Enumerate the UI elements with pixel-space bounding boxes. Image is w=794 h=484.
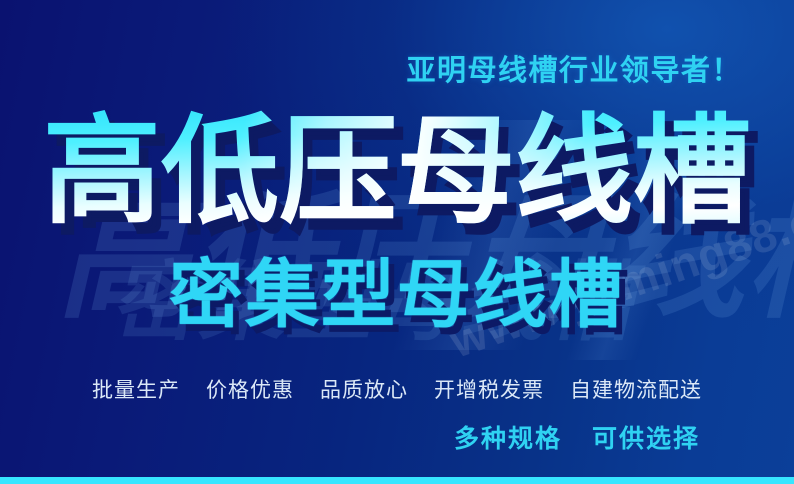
headline-group: 高低压母线槽 高低压母线槽 高低压母线槽 [0,108,794,234]
bottom-phrase: 可供选择 [592,419,700,455]
subheadline-group: 密集型母线槽 密集型母线槽 [0,255,794,335]
bottom-phrase: 多种规格 [454,419,562,455]
feature-list: 批量生产 价格优惠 品质放心 开增税发票 自建物流配送 [0,374,794,404]
promo-banner: 高低压母线槽 密集型母线槽 www.yaming88.com 亚明母线槽行业领导… [0,0,794,484]
bottom-phrase-row: 多种规格 可供选择 [454,419,700,455]
feature-item: 自建物流配送 [570,374,702,404]
feature-item: 价格优惠 [206,374,294,404]
bottom-accent-bar [0,477,794,484]
feature-item: 品质放心 [320,374,408,404]
feature-item: 批量生产 [92,374,180,404]
tagline-text: 亚明母线槽行业领导者！ [406,47,742,89]
headline-gloss-layer: 高低压母线槽 [0,108,794,234]
subheadline-text: 密集型母线槽 [0,255,794,335]
feature-item: 开增税发票 [434,374,544,404]
